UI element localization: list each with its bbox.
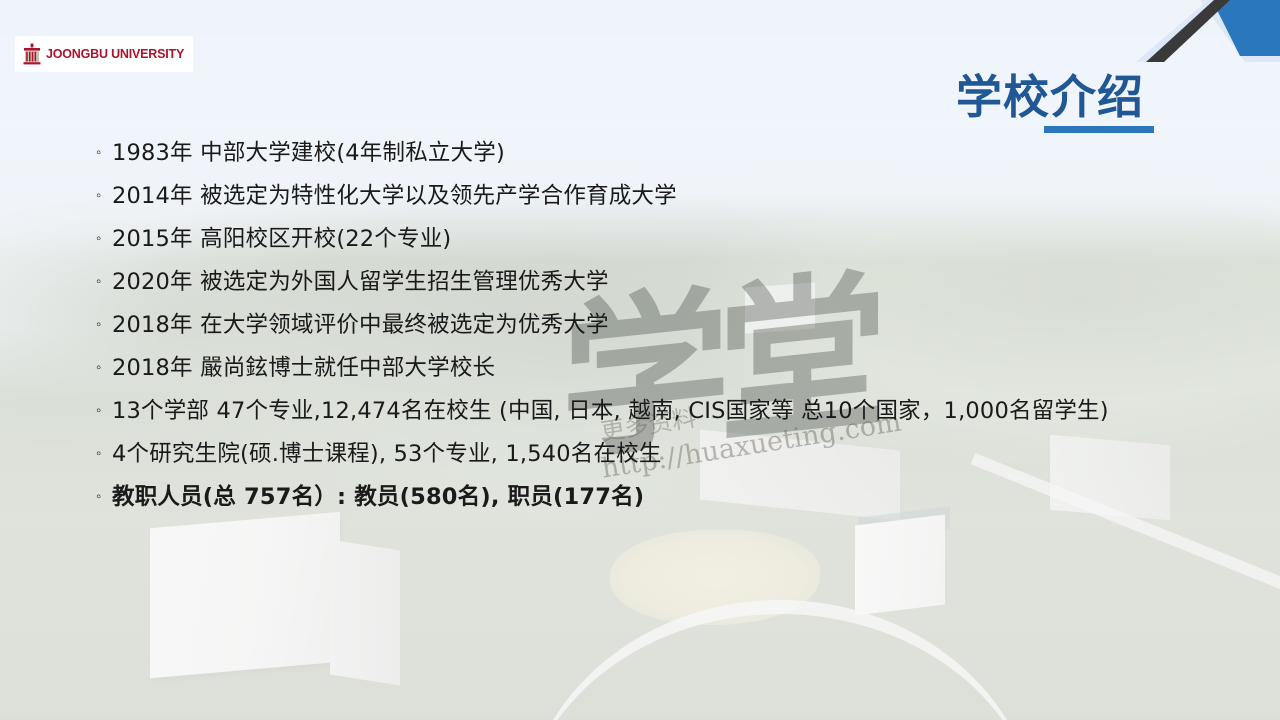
- corner-stripe-decoration: [1090, 0, 1280, 62]
- list-item: ◦1983年 中部大学建校(4年制私立大学): [96, 142, 1216, 185]
- bullet-marker-icon: ◦: [96, 403, 112, 418]
- bullet-marker-icon: ◦: [96, 446, 112, 461]
- bullet-marker-icon: ◦: [96, 231, 112, 246]
- list-item: ◦4个研究生院(硕.博士课程), 53个专业, 1,540名在校生: [96, 443, 1216, 486]
- list-item-label: 13个学部 47个专业,12,474名在校生 (中国, 日本, 越南, CIS国…: [112, 400, 1109, 423]
- presentation-slide: 学堂 更多资料 http://huaxueting.com JOONGBU UN…: [0, 0, 1280, 720]
- bullet-marker-icon: ◦: [96, 145, 112, 160]
- list-item: ◦2015年 高阳校区开校(22个专业): [96, 228, 1216, 271]
- bullet-marker-icon: ◦: [96, 317, 112, 332]
- bullet-marker-icon: ◦: [96, 489, 112, 504]
- list-item-label: 2018年 嚴尚鉉博士就任中部大学校长: [112, 357, 495, 380]
- list-item-label: 2015年 高阳校区开校(22个专业): [112, 228, 451, 251]
- page-title: 学校介绍: [956, 74, 1154, 120]
- list-item-label: 2018年 在大学领域评价中最终被选定为优秀大学: [112, 314, 609, 337]
- bullet-marker-icon: ◦: [96, 274, 112, 289]
- university-building-icon: [22, 43, 42, 65]
- list-item-label: 教职人员(总 757名）: 教员(580名), 职员(177名): [112, 486, 644, 509]
- list-item-label: 2014年 被选定为特性化大学以及领先产学合作育成大学: [112, 185, 677, 208]
- list-item: ◦2020年 被选定为外国人留学生招生管理优秀大学: [96, 271, 1216, 314]
- university-logo: JOONGBU UNIVERSITY: [15, 36, 193, 72]
- bullet-marker-icon: ◦: [96, 360, 112, 375]
- bullet-marker-icon: ◦: [96, 188, 112, 203]
- list-item: ◦2018年 嚴尚鉉博士就任中部大学校长: [96, 357, 1216, 400]
- bullet-list: ◦1983年 中部大学建校(4年制私立大学)◦2014年 被选定为特性化大学以及…: [96, 142, 1216, 529]
- list-item-label: 1983年 中部大学建校(4年制私立大学): [112, 142, 505, 165]
- list-item: ◦13个学部 47个专业,12,474名在校生 (中国, 日本, 越南, CIS…: [96, 400, 1216, 443]
- list-item-label: 4个研究生院(硕.博士课程), 53个专业, 1,540名在校生: [112, 443, 662, 466]
- slide-title-block: 学校介绍: [956, 74, 1154, 133]
- logo-wordmark: JOONGBU UNIVERSITY: [46, 47, 184, 61]
- list-item: ◦2018年 在大学领域评价中最终被选定为优秀大学: [96, 314, 1216, 357]
- list-item: ◦教职人员(总 757名）: 教员(580名), 职员(177名): [96, 486, 1216, 529]
- list-item: ◦2014年 被选定为特性化大学以及领先产学合作育成大学: [96, 185, 1216, 228]
- list-item-label: 2020年 被选定为外国人留学生招生管理优秀大学: [112, 271, 609, 294]
- title-underline: [1044, 126, 1154, 133]
